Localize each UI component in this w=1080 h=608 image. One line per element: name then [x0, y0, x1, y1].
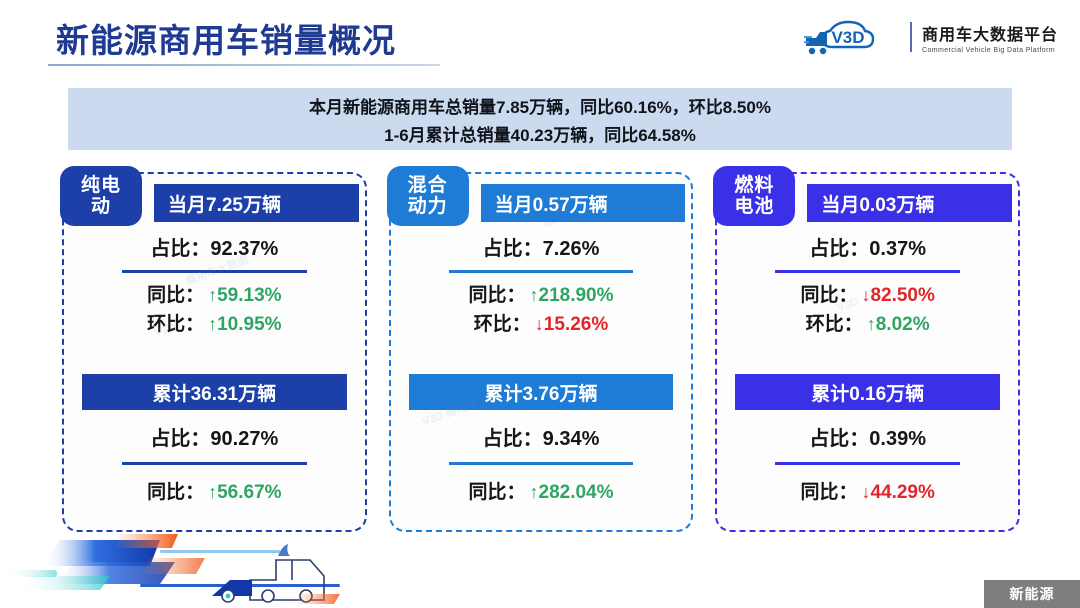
arrow-down-icon: ↓	[535, 314, 544, 334]
monthly-yoy-label: 同比：	[468, 282, 525, 311]
cumulative-yoy-row: 同比： ↓44.29%	[717, 479, 1018, 508]
monthly-mom-label: 环比：	[806, 311, 863, 340]
vehicle-cloud-logo-icon: V3D	[804, 18, 900, 56]
cumulative-yoy-row: 同比： ↑282.04%	[391, 479, 692, 508]
truck-motion-graphic	[0, 522, 460, 608]
arrow-up-icon: ↑	[867, 314, 876, 334]
card-badge-hybrid: 混合 动力	[387, 166, 469, 226]
arrow-up-icon: ↑	[208, 314, 217, 334]
monthly-mom-label: 环比：	[474, 311, 531, 340]
cumulative-share: 占比：90.27%	[64, 422, 365, 451]
summary-line-cumulative: 1-6月累计总销量40.23万辆，同比64.58%	[384, 121, 696, 146]
monthly-rates: 同比： ↑218.90% 环比： ↓15.26%	[391, 282, 692, 339]
cumulative-yoy-label: 同比：	[147, 479, 204, 508]
monthly-divider	[122, 270, 307, 273]
monthly-mom-value: ↑8.02%	[867, 311, 930, 340]
brand-name-cn: 商用车大数据平台	[922, 21, 1058, 45]
cumulative-divider	[775, 462, 960, 465]
cumulative-yoy-label: 同比：	[800, 479, 857, 508]
cumulative-title-bar: 累计3.76万辆	[409, 374, 674, 410]
card-hybrid[interactable]: 混合 动力 当月0.57万辆 占比：7.26% 同比： ↑218.90% 环比：…	[389, 172, 694, 532]
arrow-up-icon: ↑	[208, 482, 217, 502]
card-fuel-cell[interactable]: 燃料 电池 当月0.03万辆 占比：0.37% 同比： ↓82.50% 环比： …	[715, 172, 1020, 532]
title-divider	[48, 64, 440, 66]
monthly-share: 占比：92.37%	[64, 232, 365, 261]
cumulative-yoy-value: ↑282.04%	[530, 479, 614, 508]
monthly-share: 占比：0.37%	[717, 232, 1018, 261]
monthly-rates: 同比： ↑59.13% 环比： ↑10.95%	[64, 282, 365, 339]
summary-line-monthly: 本月新能源商用车总销量7.85万辆，同比60.16%，环比8.50%	[309, 93, 771, 118]
monthly-mom-label: 环比：	[147, 311, 204, 340]
brand-separator	[910, 22, 912, 52]
monthly-yoy-label: 同比：	[800, 282, 857, 311]
cumulative-rates: 同比： ↑56.67%	[64, 479, 365, 508]
cumulative-share: 占比：0.39%	[717, 422, 1018, 451]
arrow-up-icon: ↑	[530, 482, 539, 502]
monthly-divider	[449, 270, 634, 273]
cumulative-yoy-value: ↓44.29%	[861, 479, 934, 508]
monthly-yoy-value: ↑59.13%	[208, 282, 281, 311]
badge-line-2: 动	[81, 196, 121, 217]
monthly-yoy-row: 同比： ↑218.90%	[391, 282, 692, 311]
cumulative-divider	[449, 462, 634, 465]
monthly-yoy-label: 同比：	[147, 282, 204, 311]
badge-line-2: 电池	[734, 196, 774, 217]
cumulative-share: 占比：9.34%	[391, 422, 692, 451]
arrow-up-icon: ↑	[208, 285, 217, 305]
monthly-share: 占比：7.26%	[391, 232, 692, 261]
monthly-mom-row: 环比： ↓15.26%	[391, 311, 692, 340]
slide-root: 新能源商用车销量概况 V3D 商用车大数据平台 Commercial Vehic…	[0, 0, 1080, 608]
monthly-yoy-value: ↓82.50%	[861, 282, 934, 311]
cumulative-rates: 同比： ↑282.04%	[391, 479, 692, 508]
monthly-mom-value: ↑10.95%	[208, 311, 281, 340]
monthly-mom-row: 环比： ↑8.02%	[717, 311, 1018, 340]
badge-line-2: 动力	[408, 196, 448, 217]
page-title: 新能源商用车销量概况	[56, 14, 396, 62]
svg-text:V3D: V3D	[831, 28, 864, 47]
badge-line-1: 混合	[408, 175, 448, 196]
cumulative-yoy-value: ↑56.67%	[208, 479, 281, 508]
monthly-title-bar: 当月0.57万辆	[481, 184, 686, 222]
brand-logo: V3D 商用车大数据平台 Commercial Vehicle Big Data…	[804, 18, 1058, 56]
footer-badge: 新能源	[984, 580, 1080, 608]
monthly-mom-value: ↓15.26%	[535, 311, 608, 340]
arrow-up-icon: ↑	[530, 285, 539, 305]
monthly-mom-row: 环比： ↑10.95%	[64, 311, 365, 340]
card-badge-fuel-cell: 燃料 电池	[713, 166, 795, 226]
monthly-rates: 同比： ↓82.50% 环比： ↑8.02%	[717, 282, 1018, 339]
card-pure-electric[interactable]: 纯电 动 当月7.25万辆 占比：92.37% 同比： ↑59.13% 环比： …	[62, 172, 367, 532]
monthly-yoy-row: 同比： ↑59.13%	[64, 282, 365, 311]
monthly-divider	[775, 270, 960, 273]
monthly-title-bar: 当月7.25万辆	[154, 184, 359, 222]
cumulative-rates: 同比： ↓44.29%	[717, 479, 1018, 508]
cumulative-title-bar: 累计36.31万辆	[82, 374, 347, 410]
brand-name-en: Commercial Vehicle Big Data Platform	[922, 47, 1058, 54]
badge-line-1: 纯电	[81, 175, 121, 196]
cumulative-yoy-row: 同比： ↑56.67%	[64, 479, 365, 508]
badge-line-1: 燃料	[734, 175, 774, 196]
monthly-title-bar: 当月0.03万辆	[807, 184, 1012, 222]
cumulative-title-bar: 累计0.16万辆	[735, 374, 1000, 410]
monthly-yoy-value: ↑218.90%	[530, 282, 614, 311]
metric-card-grid: 纯电 动 当月7.25万辆 占比：92.37% 同比： ↑59.13% 环比： …	[62, 172, 1020, 532]
summary-banner: 本月新能源商用车总销量7.85万辆，同比60.16%，环比8.50% 1-6月累…	[68, 88, 1012, 150]
cumulative-divider	[122, 462, 307, 465]
card-badge-pure-electric: 纯电 动	[60, 166, 142, 226]
monthly-yoy-row: 同比： ↓82.50%	[717, 282, 1018, 311]
cumulative-yoy-label: 同比：	[468, 479, 525, 508]
